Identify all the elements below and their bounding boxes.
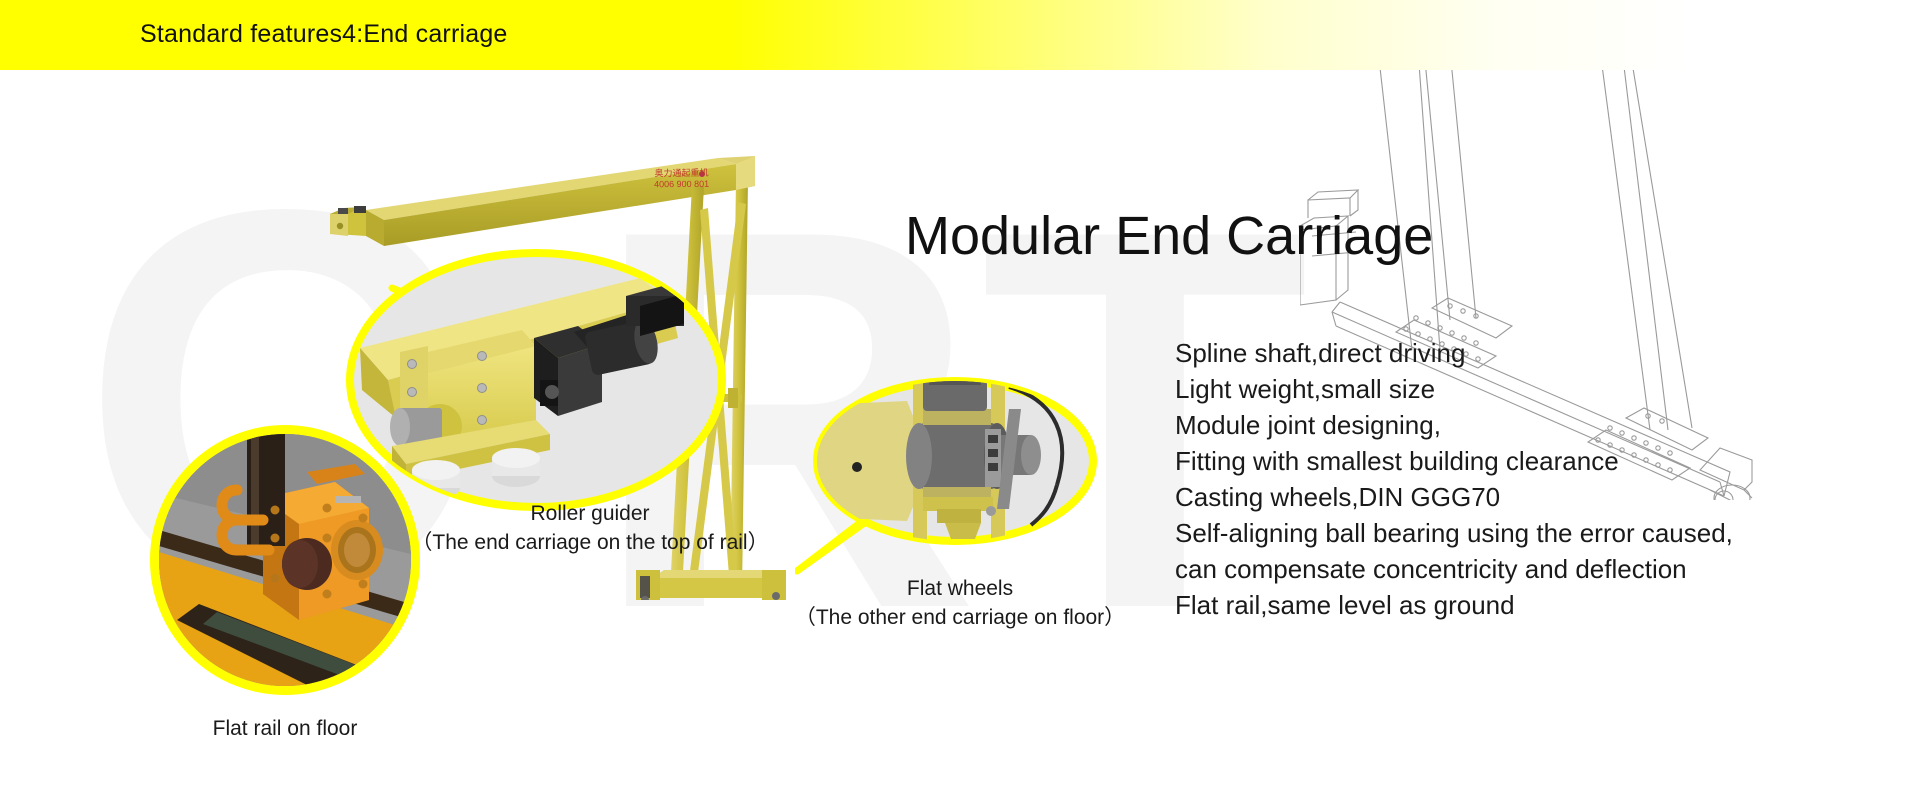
caption-roller-guider-sub: （The end carriage on the top of rail）: [350, 528, 830, 558]
feature-item: Flat rail,same level as ground: [1175, 587, 1795, 623]
feature-item: Self-aligning ball bearing using the err…: [1175, 515, 1795, 551]
beam-brand-phone: 4006 900 801: [654, 179, 709, 191]
page-title: Modular End Carriage: [905, 205, 1433, 267]
feature-item: Spline shaft,direct driving: [1175, 335, 1795, 371]
caption-roller-guider: Roller guider （The end carriage on the t…: [350, 500, 830, 558]
feature-item: Casting wheels,DIN GGG70: [1175, 479, 1795, 515]
header-bar: Standard features4:End carriage: [0, 0, 1920, 70]
callout-flat-wheels: [795, 375, 1100, 575]
feature-list: Spline shaft,direct driving Light weight…: [1175, 335, 1795, 623]
caption-flat-rail: Flat rail on floor: [120, 715, 450, 743]
header-title: Standard features4:End carriage: [140, 20, 508, 49]
feature-item: Fitting with smallest building clearance: [1175, 443, 1795, 479]
beam-brand-text: 奥力通起重机 4006 900 801: [654, 168, 709, 191]
flat-rail-photo: [150, 425, 420, 695]
beam-brand-cn: 奥力通起重机: [654, 168, 709, 180]
caption-roller-guider-title: Roller guider: [350, 500, 830, 528]
caption-flat-wheels-title: Flat wheels: [760, 575, 1160, 603]
feature-item: Light weight,small size: [1175, 371, 1795, 407]
feature-item: Module joint designing,: [1175, 407, 1795, 443]
caption-flat-wheels-sub: （The other end carriage on floor）: [760, 603, 1160, 633]
caption-flat-wheels: Flat wheels （The other end carriage on f…: [760, 575, 1160, 633]
caption-flat-rail-title: Flat rail on floor: [120, 715, 450, 743]
feature-item: can compensate concentricity and deflect…: [1175, 551, 1795, 587]
